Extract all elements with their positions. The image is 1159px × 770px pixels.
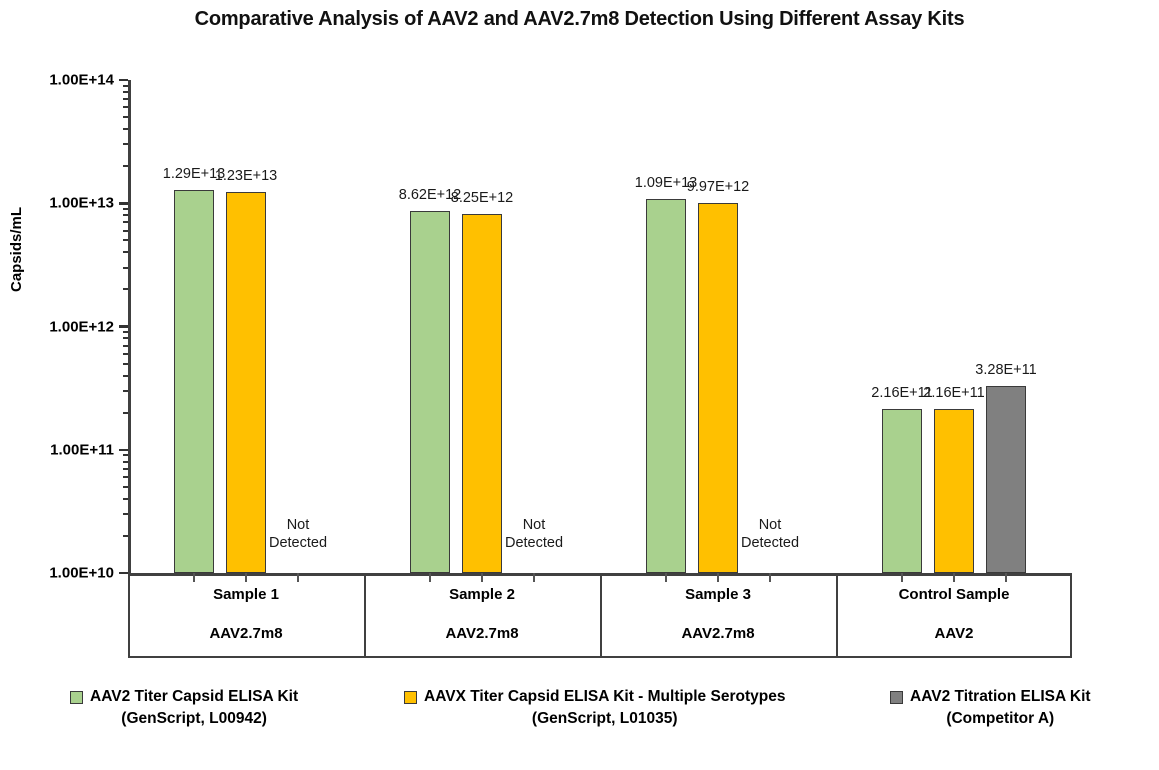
bar[interactable] xyxy=(462,214,502,573)
category-separator xyxy=(836,573,838,656)
y-tick-minor xyxy=(123,165,129,167)
category-label: Sample 1 xyxy=(213,586,279,603)
y-tick-minor xyxy=(123,476,129,478)
not-detected-line2: Detected xyxy=(505,534,563,552)
legend-label: AAVX Titer Capsid ELISA Kit - Multiple S… xyxy=(424,688,785,706)
not-detected-line1: Not xyxy=(505,516,563,534)
legend-item[interactable]: AAVX Titer Capsid ELISA Kit - Multiple S… xyxy=(404,688,785,728)
category-label: Sample 2 xyxy=(449,586,515,603)
chart-root: Comparative Analysis of AAV2 and AAV2.7m… xyxy=(0,0,1159,770)
plot-area: 1.00E+141.00E+131.00E+121.00E+111.00E+10… xyxy=(128,80,1072,573)
not-detected-label: NotDetected xyxy=(741,516,799,552)
bar[interactable] xyxy=(646,199,686,573)
bar[interactable] xyxy=(226,192,266,573)
legend-item[interactable]: AAV2 Titration ELISA Kit(Competitor A) xyxy=(890,688,1091,728)
bar-value-label: 3.28E+11 xyxy=(975,362,1036,378)
y-tick-minor xyxy=(123,353,129,355)
y-tick-minor xyxy=(123,106,129,108)
y-tick-minor xyxy=(123,214,129,216)
y-tick-major xyxy=(119,572,128,575)
y-tick-minor xyxy=(123,461,129,463)
legend-item[interactable]: AAV2 Titer Capsid ELISA Kit(GenScript, L… xyxy=(70,688,298,728)
y-tick-minor xyxy=(123,116,129,118)
y-tick-minor xyxy=(123,98,129,100)
y-tick-minor xyxy=(123,363,129,365)
not-detected-label: NotDetected xyxy=(505,516,563,552)
category-sublabel: AAV2.7m8 xyxy=(681,625,754,642)
y-tick-minor xyxy=(123,267,129,269)
y-tick-minor xyxy=(123,375,129,377)
y-tick-minor xyxy=(123,513,129,515)
y-tick-minor xyxy=(123,337,129,339)
y-tick-minor xyxy=(123,468,129,470)
bar[interactable] xyxy=(882,409,922,573)
category-separator xyxy=(128,573,130,656)
x-tick xyxy=(665,573,667,582)
x-tick xyxy=(717,573,719,582)
y-tick-label: 1.00E+12 xyxy=(49,318,114,335)
chart-legend: AAV2 Titer Capsid ELISA Kit(GenScript, L… xyxy=(0,688,1159,762)
legend-item-row-primary: AAV2 Titer Capsid ELISA Kit xyxy=(70,688,298,706)
y-tick-minor xyxy=(123,251,129,253)
y-tick-minor xyxy=(123,239,129,241)
x-tick xyxy=(533,573,535,582)
y-tick-minor xyxy=(123,412,129,414)
legend-sublabel: (Competitor A) xyxy=(890,710,1091,728)
legend-sublabel: (GenScript, L00942) xyxy=(70,710,298,728)
y-tick-minor xyxy=(123,454,129,456)
category-band-baseline xyxy=(128,656,1072,658)
bar[interactable] xyxy=(934,409,974,573)
legend-item-row-primary: AAVX Titer Capsid ELISA Kit - Multiple S… xyxy=(404,688,785,706)
not-detected-line2: Detected xyxy=(741,534,799,552)
x-tick xyxy=(1005,573,1007,582)
y-tick-minor xyxy=(123,390,129,392)
not-detected-line2: Detected xyxy=(269,534,327,552)
legend-sublabel: (GenScript, L01035) xyxy=(404,710,785,728)
y-tick-minor xyxy=(123,91,129,93)
legend-item-row-primary: AAV2 Titration ELISA Kit xyxy=(890,688,1091,706)
y-tick-label: 1.00E+10 xyxy=(49,565,114,582)
category-label: Sample 3 xyxy=(685,586,751,603)
y-tick-minor xyxy=(123,221,129,223)
y-tick-minor xyxy=(123,85,129,87)
category-sublabel: AAV2.7m8 xyxy=(209,625,282,642)
y-tick-major xyxy=(119,325,128,328)
not-detected-line1: Not xyxy=(741,516,799,534)
y-tick-major xyxy=(119,79,128,82)
category-sublabel: AAV2.7m8 xyxy=(445,625,518,642)
category-separator xyxy=(1070,573,1072,656)
not-detected-label: NotDetected xyxy=(269,516,327,552)
y-tick-minor xyxy=(123,288,129,290)
x-tick xyxy=(297,573,299,582)
legend-label: AAV2 Titer Capsid ELISA Kit xyxy=(90,688,298,706)
y-tick-minor xyxy=(123,345,129,347)
x-tick xyxy=(245,573,247,582)
chart-title: Comparative Analysis of AAV2 and AAV2.7m… xyxy=(0,8,1159,31)
legend-swatch-icon xyxy=(890,691,903,704)
not-detected-line1: Not xyxy=(269,516,327,534)
y-tick-major xyxy=(119,202,128,205)
y-tick-minor xyxy=(123,143,129,145)
x-tick xyxy=(901,573,903,582)
x-tick xyxy=(481,573,483,582)
legend-label: AAV2 Titration ELISA Kit xyxy=(910,688,1091,706)
bar-value-label: 8.25E+12 xyxy=(451,190,514,206)
x-tick xyxy=(953,573,955,582)
legend-swatch-icon xyxy=(404,691,417,704)
category-label: Control Sample xyxy=(899,586,1010,603)
y-tick-label: 1.00E+13 xyxy=(49,195,114,212)
x-tick xyxy=(429,573,431,582)
bar[interactable] xyxy=(174,190,214,573)
y-tick-minor xyxy=(123,498,129,500)
bar-value-label: 2.16E+11 xyxy=(923,385,984,401)
bar[interactable] xyxy=(986,386,1026,573)
bar-value-label: 1.23E+13 xyxy=(215,168,278,184)
y-tick-minor xyxy=(123,331,129,333)
y-tick-minor xyxy=(123,128,129,130)
category-separator xyxy=(600,573,602,656)
y-axis-line xyxy=(128,80,131,573)
bar[interactable] xyxy=(410,211,450,573)
y-tick-major xyxy=(119,449,128,452)
x-tick xyxy=(769,573,771,582)
bar-value-label: 9.97E+12 xyxy=(687,179,750,195)
y-tick-minor xyxy=(123,486,129,488)
category-separator xyxy=(364,573,366,656)
y-tick-label: 1.00E+11 xyxy=(50,441,114,458)
y-tick-minor xyxy=(123,535,129,537)
category-sublabel: AAV2 xyxy=(935,625,974,642)
bar[interactable] xyxy=(698,203,738,573)
y-tick-minor xyxy=(123,230,129,232)
y-tick-label: 1.00E+14 xyxy=(49,72,114,89)
y-axis-title: Capsids/mL xyxy=(8,207,25,292)
y-tick-minor xyxy=(123,208,129,210)
x-tick xyxy=(193,573,195,582)
legend-swatch-icon xyxy=(70,691,83,704)
